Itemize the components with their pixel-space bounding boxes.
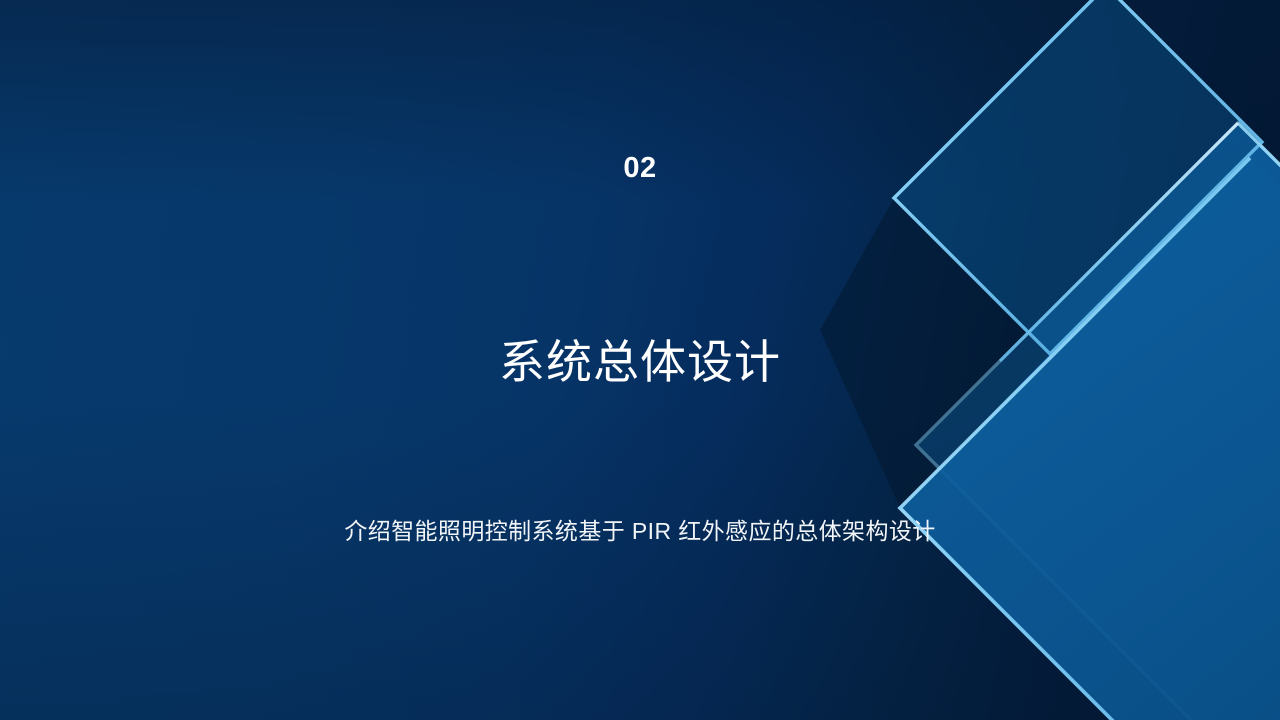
section-subtitle: 介绍智能照明控制系统基于 PIR 红外感应的总体架构设计 [0, 514, 1280, 548]
section-number: 02 [0, 148, 1280, 188]
presentation-slide: 02 系统总体设计 介绍智能照明控制系统基于 PIR 红外感应的总体架构设计 [0, 0, 1280, 720]
slide-content: 02 系统总体设计 介绍智能照明控制系统基于 PIR 红外感应的总体架构设计 [0, 0, 1280, 720]
section-title: 系统总体设计 [0, 330, 1280, 394]
